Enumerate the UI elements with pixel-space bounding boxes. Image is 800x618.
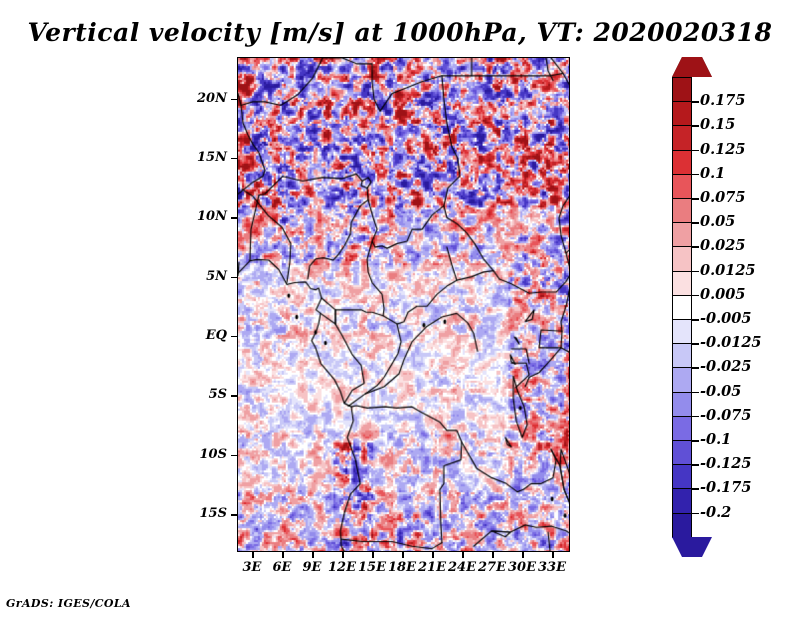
longitude-tick — [312, 552, 314, 558]
colorbar-swatch — [672, 416, 692, 442]
colorbar-swatch — [672, 174, 692, 200]
colorbar-tick — [692, 440, 699, 442]
longitude-tick — [552, 552, 554, 558]
colorbar: 0.1750.150.1250.10.0750.050.0250.01250.0… — [672, 57, 792, 557]
latitude-tick — [231, 277, 237, 279]
colorbar-tick — [692, 198, 699, 200]
colorbar-label: -0.025 — [700, 358, 751, 375]
colorbar-swatch — [672, 125, 692, 151]
colorbar-label: 0.0125 — [700, 262, 756, 279]
longitude-tick — [462, 552, 464, 558]
colorbar-tick — [692, 295, 699, 297]
colorbar-arrow-bottom — [672, 537, 712, 557]
colorbar-tick — [692, 174, 699, 176]
latitude-label: 5N — [183, 269, 227, 284]
colorbar-swatch — [672, 77, 692, 103]
colorbar-swatch — [672, 222, 692, 248]
colorbar-label: -0.2 — [700, 504, 731, 521]
colorbar-label: 0.175 — [700, 92, 745, 109]
colorbar-swatch — [672, 464, 692, 490]
latitude-tick — [231, 455, 237, 457]
longitude-tick — [432, 552, 434, 558]
colorbar-label: -0.125 — [700, 455, 751, 472]
credit-text: GrADS: IGES/COLA — [6, 597, 131, 610]
latitude-label: 5S — [183, 387, 227, 402]
colorbar-label: 0.125 — [700, 141, 745, 158]
colorbar-swatch — [672, 440, 692, 466]
colorbar-swatch — [672, 295, 692, 321]
longitude-tick — [342, 552, 344, 558]
colorbar-label: -0.175 — [700, 479, 751, 496]
colorbar-label: -0.05 — [700, 383, 741, 400]
colorbar-tick — [692, 416, 699, 418]
latitude-label: 20N — [183, 91, 227, 106]
colorbar-label: -0.005 — [700, 310, 751, 327]
colorbar-label: -0.075 — [700, 407, 751, 424]
vertical-velocity-field — [238, 58, 569, 551]
map-plot-area[interactable] — [237, 57, 570, 552]
colorbar-tick — [692, 246, 699, 248]
colorbar-swatch — [672, 319, 692, 345]
latitude-label: EQ — [183, 328, 227, 343]
colorbar-label: 0.025 — [700, 237, 745, 254]
latitude-tick — [231, 336, 237, 338]
colorbar-swatch — [672, 392, 692, 418]
latitude-label: 15N — [183, 150, 227, 165]
page-title: Vertical velocity [m/s] at 1000hPa, VT: … — [0, 18, 800, 47]
colorbar-label: 0.05 — [700, 213, 735, 230]
colorbar-tick — [692, 392, 699, 394]
colorbar-arrow-top — [672, 57, 712, 77]
latitude-label: 10N — [183, 209, 227, 224]
colorbar-label: 0.15 — [700, 116, 735, 133]
colorbar-swatch — [672, 488, 692, 514]
latitude-tick — [231, 158, 237, 160]
latitude-tick — [231, 99, 237, 101]
colorbar-swatch — [672, 343, 692, 369]
colorbar-swatch — [672, 271, 692, 297]
latitude-label: 15S — [183, 506, 227, 521]
latitude-tick — [231, 514, 237, 516]
colorbar-swatch — [672, 246, 692, 272]
longitude-tick — [282, 552, 284, 558]
latitude-label: 10S — [183, 447, 227, 462]
latitude-tick — [231, 217, 237, 219]
colorbar-label: -0.0125 — [700, 334, 762, 351]
colorbar-tick — [692, 513, 699, 515]
colorbar-tick — [692, 367, 699, 369]
colorbar-label: 0.075 — [700, 189, 745, 206]
colorbar-swatch — [672, 150, 692, 176]
longitude-tick — [402, 552, 404, 558]
longitude-tick — [492, 552, 494, 558]
colorbar-swatch — [672, 513, 692, 539]
colorbar-tick — [692, 222, 699, 224]
latitude-tick — [231, 395, 237, 397]
longitude-tick — [372, 552, 374, 558]
colorbar-swatch — [672, 198, 692, 224]
colorbar-tick — [692, 343, 699, 345]
colorbar-tick — [692, 464, 699, 466]
colorbar-label: 0.1 — [700, 165, 725, 182]
longitude-tick — [522, 552, 524, 558]
colorbar-tick — [692, 488, 699, 490]
colorbar-tick — [692, 150, 699, 152]
colorbar-tick — [692, 271, 699, 273]
colorbar-label: -0.1 — [700, 431, 731, 448]
longitude-label: 33E — [532, 560, 572, 575]
colorbar-tick — [692, 101, 699, 103]
colorbar-label: 0.005 — [700, 286, 745, 303]
colorbar-swatch — [672, 367, 692, 393]
colorbar-tick — [692, 125, 699, 127]
colorbar-swatch — [672, 101, 692, 127]
longitude-tick — [252, 552, 254, 558]
colorbar-tick — [692, 319, 699, 321]
